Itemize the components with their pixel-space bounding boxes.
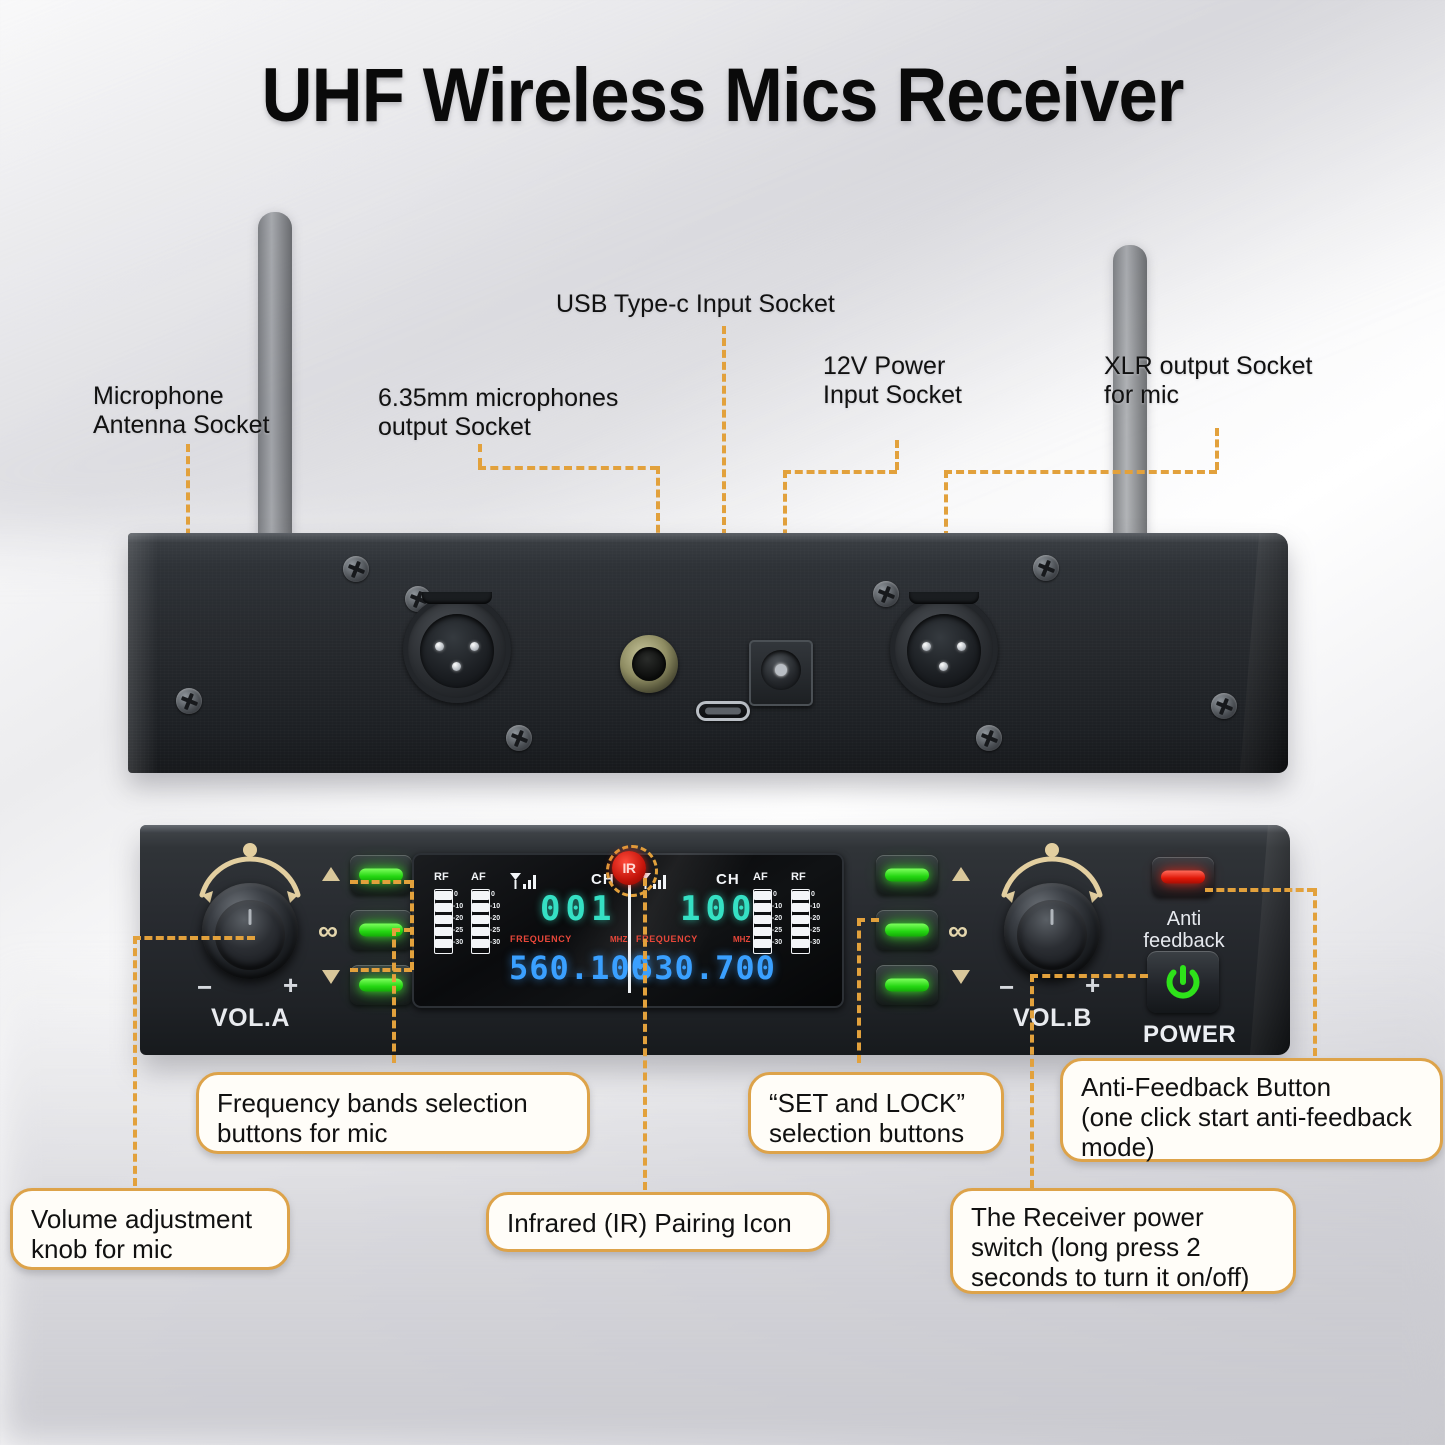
- lcd-rf-label-right: RF: [791, 871, 806, 883]
- ir-pairing-icon[interactable]: IR: [612, 851, 646, 885]
- button-led: [885, 924, 929, 937]
- xlr-insert-left: [420, 614, 494, 688]
- usb-type-c-tongue: [705, 708, 741, 715]
- lcd-tick: -10: [453, 903, 463, 910]
- lcd-tick: -10: [490, 903, 500, 910]
- meter-segment: [792, 927, 809, 936]
- band-up-icon-b: [952, 867, 970, 881]
- dc-power-socket-housing[interactable]: [749, 640, 813, 706]
- page-title: UHF Wireless Mics Receiver: [51, 52, 1395, 139]
- lcd-channel-divider: [628, 883, 631, 993]
- screw: [976, 725, 1002, 751]
- lcd-tick: -20: [490, 915, 500, 922]
- lcd-tick: -25: [453, 927, 463, 934]
- jack-socket-635mm-hole: [632, 647, 666, 681]
- power-button[interactable]: [1147, 951, 1219, 1013]
- vol-b-minus-sign: −: [999, 972, 1014, 1003]
- screw: [506, 725, 532, 751]
- meter-segment: [754, 903, 771, 912]
- meter-segment: [435, 915, 452, 924]
- meter-segment: [792, 915, 809, 924]
- lcd-mhz-label-right: MHZ: [733, 935, 750, 944]
- volume-knob-a-cap: [215, 900, 285, 970]
- callout-box-set-and-lock: “SET and LOCK” selection buttons: [748, 1072, 1004, 1154]
- link-icon-b: ∞: [948, 917, 968, 945]
- screw: [1211, 693, 1237, 719]
- lcd-af-label-right: AF: [753, 871, 768, 883]
- connector-antifb-v1: [1313, 888, 1317, 1056]
- button-led: [359, 979, 403, 992]
- callout-label-12v-power-input-socket: 12V Power Input Socket: [823, 352, 962, 410]
- power-label: POWER: [1143, 1021, 1236, 1049]
- infographic-canvas: UHF Wireless Mics Receiver Microphone An…: [0, 0, 1445, 1445]
- lcd-tick: -20: [772, 915, 782, 922]
- vol-a-plus-sign: +: [283, 970, 298, 1001]
- set-lock-button-up[interactable]: [876, 855, 938, 895]
- callout-box-volume-knob: Volume adjustment knob for mic: [10, 1188, 290, 1270]
- lcd-rf-label-left: RF: [434, 871, 449, 883]
- meter-segment: [754, 927, 771, 936]
- front-panel-right-bevel: [1250, 825, 1290, 1055]
- xlr-pin: [922, 642, 931, 651]
- rear-panel-texture: [128, 533, 1288, 773]
- connector-volume-v1: [133, 936, 137, 1186]
- callout-label-xlr-output-socket: XLR output Socket for mic: [1104, 352, 1312, 410]
- lcd-tick: -30: [453, 939, 463, 946]
- receiver-front-panel: − + VOL.A ∞ RF 0 -10 -20 -25 -30: [140, 825, 1290, 1055]
- band-up-icon-a: [322, 867, 340, 881]
- anti-feedback-label: Anti feedback: [1140, 909, 1228, 952]
- meter-segment: [754, 939, 771, 948]
- callout-box-frequency-bands: Frequency bands selection buttons for mi…: [196, 1072, 590, 1154]
- xlr-pin: [452, 662, 461, 671]
- lcd-tick: 0: [491, 891, 495, 898]
- signal-bars-icon-left: [508, 871, 540, 891]
- connector-volume-h1: [133, 936, 255, 940]
- jack-socket-635mm[interactable]: [620, 635, 678, 693]
- band-select-button-a-up[interactable]: [350, 855, 412, 895]
- lcd-ch-label-right: CH: [716, 871, 740, 888]
- callout-box-anti-feedback: Anti-Feedback Button (one click start an…: [1060, 1058, 1443, 1162]
- connector-12v-h1: [783, 470, 897, 474]
- lcd-tick: -30: [490, 939, 500, 946]
- connector-xlr-v1: [1215, 428, 1219, 470]
- connector-setlock-h1: [857, 918, 879, 922]
- meter-segment: [792, 891, 809, 900]
- callout-label-usb-type-c-input-socket: USB Type-c Input Socket: [556, 290, 835, 319]
- screw: [873, 581, 899, 607]
- button-led: [885, 869, 929, 882]
- connector-band-v2: [392, 928, 396, 1063]
- meter-segment: [435, 903, 452, 912]
- lcd-rf-meter-right: [791, 889, 810, 954]
- button-led: [1161, 871, 1205, 884]
- meter-segment: [472, 915, 489, 924]
- screw: [343, 556, 369, 582]
- lcd-tick: -30: [810, 939, 820, 946]
- meter-segment: [792, 903, 809, 912]
- usb-type-c-port[interactable]: [696, 701, 750, 721]
- connector-power-v1: [1030, 974, 1034, 1188]
- xlr-connector-left[interactable]: [403, 595, 511, 703]
- lcd-tick: 0: [773, 891, 777, 898]
- lcd-tick: -30: [772, 939, 782, 946]
- rear-panel-left-bevel: [128, 533, 158, 773]
- xlr-latch-notch: [422, 592, 491, 604]
- dc-power-socket: [761, 650, 801, 690]
- meter-segment: [435, 927, 452, 936]
- meter-segment: [472, 927, 489, 936]
- receiver-rear-panel: [128, 533, 1288, 773]
- lcd-frequency-value-right: 530.700: [634, 949, 776, 987]
- volume-knob-a-indicator: [249, 909, 252, 925]
- callout-label-mic-antenna-socket: Microphone Antenna Socket: [93, 382, 270, 440]
- lcd-af-meter-right: [753, 889, 772, 954]
- xlr-pin: [470, 642, 479, 651]
- meter-segment: [472, 903, 489, 912]
- connector-band-h2: [350, 968, 412, 972]
- lcd-tick: -20: [810, 915, 820, 922]
- meter-segment: [472, 939, 489, 948]
- button-led: [885, 979, 929, 992]
- connector-band-v1: [410, 880, 414, 970]
- link-icon-a: ∞: [318, 917, 338, 945]
- connector-xlr-h1: [944, 470, 1217, 474]
- lcd-tick: 0: [454, 891, 458, 898]
- volume-knob-b[interactable]: [1004, 883, 1100, 979]
- connector-antifb-h1: [1205, 888, 1315, 892]
- callout-box-power-switch: The Receiver power switch (long press 2 …: [950, 1188, 1296, 1294]
- connector-band-h1: [350, 880, 412, 884]
- volume-knob-a[interactable]: [202, 883, 298, 979]
- volume-knob-b-indicator: [1051, 909, 1054, 925]
- vol-a-label: VOL.A: [211, 1004, 290, 1033]
- connector-635mm-v1: [478, 444, 482, 466]
- screw: [1033, 555, 1059, 581]
- xlr-connector-right[interactable]: [890, 595, 998, 703]
- lcd-frequency-label-left: FREQUENCY: [510, 934, 572, 944]
- lcd-mhz-label-left: MHZ: [610, 935, 627, 944]
- xlr-latch-notch: [909, 592, 978, 604]
- lcd-af-label-left: AF: [471, 871, 486, 883]
- connector-635mm-h1: [478, 466, 658, 470]
- lcd-channel-value-left: 001: [540, 889, 616, 929]
- set-lock-button-link[interactable]: [876, 910, 938, 950]
- callout-label-635mm-output-socket: 6.35mm microphones output Socket: [378, 384, 618, 442]
- lcd-tick: 0: [811, 891, 815, 898]
- lcd-tick: -10: [810, 903, 820, 910]
- lcd-tick: -25: [490, 927, 500, 934]
- lcd-tick: -25: [772, 927, 782, 934]
- power-icon: [1162, 961, 1204, 1003]
- connector-setlock-v1: [857, 918, 861, 1063]
- lcd-channel-value-right: 100: [680, 889, 756, 929]
- meter-segment: [754, 915, 771, 924]
- meter-segment: [754, 891, 771, 900]
- lcd-rf-meter-left: [434, 889, 453, 954]
- connector-ir-v1: [643, 878, 647, 1190]
- xlr-insert-right: [907, 614, 981, 688]
- vol-a-minus-sign: −: [197, 972, 212, 1003]
- xlr-pin: [435, 642, 444, 651]
- band-down-icon-b: [952, 970, 970, 984]
- screw: [176, 688, 202, 714]
- lcd-tick: -10: [772, 903, 782, 910]
- connector-power-h1: [1030, 974, 1148, 978]
- vol-b-label: VOL.B: [1013, 1004, 1092, 1033]
- lcd-tick: -25: [810, 927, 820, 934]
- xlr-pin: [939, 662, 948, 671]
- connector-band-h3: [392, 928, 412, 932]
- xlr-pin: [957, 642, 966, 651]
- lcd-af-meter-left: [471, 889, 490, 954]
- lcd-tick: -20: [453, 915, 463, 922]
- set-lock-button-down[interactable]: [876, 965, 938, 1005]
- meter-segment: [435, 939, 452, 948]
- meter-segment: [792, 939, 809, 948]
- callout-box-ir-pairing: Infrared (IR) Pairing Icon: [486, 1192, 830, 1252]
- meter-segment: [472, 891, 489, 900]
- connector-12v-v1: [895, 440, 899, 470]
- band-down-icon-a: [322, 970, 340, 984]
- volume-knob-b-cap: [1017, 900, 1087, 970]
- meter-segment: [435, 891, 452, 900]
